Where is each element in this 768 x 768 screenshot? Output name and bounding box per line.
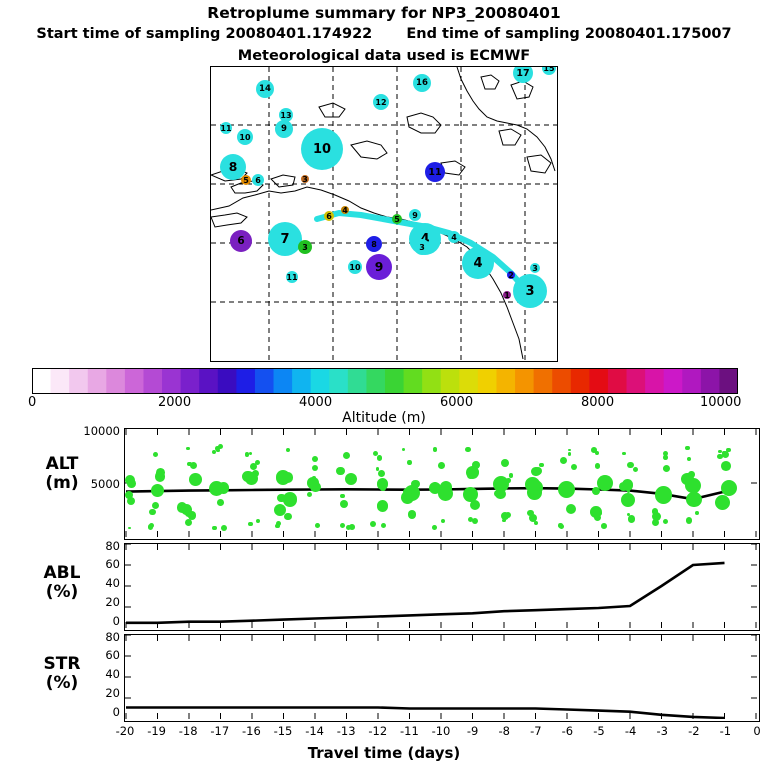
str-ytick-80: 80 [64, 630, 120, 644]
alt-bubble [312, 456, 318, 462]
alt-bubble [128, 527, 131, 530]
x-tick-label: -12 [362, 724, 394, 738]
abl-plot [124, 543, 760, 631]
map-marker: 6 [324, 211, 334, 221]
map-marker-label: 6 [237, 235, 244, 247]
map-marker-label: 9 [412, 211, 418, 220]
map-marker: 10 [237, 129, 253, 145]
map-marker-label: 9 [281, 124, 287, 134]
alt-bubble [408, 510, 416, 518]
x-tick-label: -18 [172, 724, 204, 738]
map-marker-label: 1 [504, 291, 510, 300]
alt-bubble [663, 465, 670, 472]
map-marker: 5 [392, 214, 402, 224]
map-marker-label: 6 [326, 212, 332, 221]
map-panel: 1715141612139111010811563645976343481091… [210, 66, 558, 362]
alt-bubble [571, 464, 577, 470]
alt-bubble [189, 473, 202, 486]
str-plot [124, 634, 760, 722]
map-marker: 2 [507, 271, 515, 279]
alt-bubble [217, 499, 224, 506]
map-marker-label: 13 [280, 111, 291, 120]
map-marker-label: 11 [286, 273, 297, 282]
colorbar-tick-4000: 4000 [299, 395, 332, 410]
map-marker-label: 8 [229, 160, 238, 174]
abl-ytick-60: 60 [64, 557, 120, 571]
map-marker-label: 3 [525, 284, 534, 299]
map-marker: 11 [220, 122, 232, 134]
alt-ytick-5000: 5000 [64, 477, 120, 491]
x-axis-title: Travel time (days) [0, 744, 768, 762]
map-marker: 4 [341, 206, 349, 214]
map-marker: 9 [275, 120, 293, 138]
map-marker-label: 3 [532, 264, 538, 273]
alt-bubble [463, 487, 478, 502]
alt-bubble [336, 467, 344, 475]
map-graphic [211, 67, 557, 361]
alt-bubble [151, 484, 164, 497]
map-marker: 1 [503, 291, 511, 299]
map-marker: 6 [252, 174, 264, 186]
map-marker-label: 12 [375, 98, 386, 107]
alt-bubble [438, 462, 445, 469]
x-tick-label: -4 [615, 724, 647, 738]
map-marker-label: 2 [508, 271, 514, 280]
x-tick-label: -1 [709, 724, 741, 738]
alt-bubble [525, 477, 540, 492]
str-ytick-60: 60 [64, 648, 120, 662]
alt-bubble [407, 460, 411, 464]
str-plot-graphic [125, 635, 757, 719]
alt-bubble [218, 482, 229, 493]
alt-bubble [349, 477, 354, 482]
map-marker: 3 [513, 274, 547, 308]
map-marker-label: 4 [473, 256, 482, 271]
map-marker: 5 [241, 175, 251, 185]
map-marker: 11 [286, 271, 298, 283]
page-title: Retroplume summary for NP3_20080401 [0, 4, 768, 22]
start-time-label: Start time of sampling 20080401.174922 [36, 26, 372, 42]
map-marker-label: 5 [243, 176, 249, 185]
colorbar-tick-0: 0 [28, 395, 36, 410]
alt-bubble [441, 519, 445, 523]
alt-bubble [312, 465, 318, 471]
map-marker: 10 [348, 260, 362, 274]
end-time-label: End time of sampling 20080401.175007 [406, 26, 731, 42]
map-marker: 4 [448, 231, 460, 243]
x-tick-label: -6 [551, 724, 583, 738]
map-marker: 3 [530, 263, 540, 273]
alt-bubble [277, 494, 286, 503]
alt-bubble [275, 524, 279, 528]
map-marker-label: 3 [302, 243, 308, 252]
alt-bubble [221, 525, 227, 531]
map-marker-label: 6 [255, 176, 261, 185]
alt-bubble [505, 512, 511, 518]
abl-ytick-80: 80 [64, 539, 120, 553]
abl-ytick-40: 40 [64, 576, 120, 590]
alt-bubble [245, 452, 249, 456]
map-marker-label: 17 [516, 68, 529, 79]
map-marker: 12 [373, 94, 389, 110]
abl-ytick-0: 0 [64, 614, 120, 628]
alt-bubble [560, 457, 567, 464]
abl-ytick-20: 20 [64, 595, 120, 609]
map-marker-label: 10 [313, 142, 331, 157]
alt-bubble [340, 500, 348, 508]
alt-bubble [471, 468, 479, 476]
alt-bubble [685, 478, 700, 493]
alt-bubble [378, 470, 385, 477]
x-tick-label: -8 [488, 724, 520, 738]
alt-bubble [685, 446, 690, 451]
colorbar-tick-8000: 8000 [581, 395, 614, 410]
alt-bubble [686, 517, 693, 524]
map-marker: 3 [301, 175, 309, 183]
map-marker: 6 [230, 230, 252, 252]
alt-bubble [340, 523, 345, 528]
map-marker-label: 11 [220, 124, 231, 133]
alt-bubble [433, 447, 437, 451]
alt-bubble [687, 457, 691, 461]
map-marker-label: 14 [259, 84, 271, 94]
x-tick-label: -5 [583, 724, 615, 738]
map-marker: 9 [366, 254, 392, 280]
alt-bubble [590, 506, 602, 518]
map-marker-label: 15 [543, 66, 554, 73]
alt-bubble [652, 512, 661, 521]
alt-bubble [310, 482, 321, 493]
x-tick-label: -13 [330, 724, 362, 738]
x-tick-label: -3 [646, 724, 678, 738]
alt-bubble [403, 488, 411, 496]
map-marker-label: 10 [239, 133, 250, 142]
str-ytick-0: 0 [64, 705, 120, 719]
map-marker-label: 10 [349, 263, 360, 272]
map-marker: 16 [413, 74, 431, 92]
alt-bubble [724, 503, 729, 508]
map-marker: 11 [425, 162, 445, 182]
x-tick-label: -16 [235, 724, 267, 738]
alt-bubble [619, 482, 628, 491]
map-marker-label: 5 [394, 215, 400, 224]
map-marker-label: 4 [342, 206, 348, 215]
x-tick-label: -17 [204, 724, 236, 738]
abl-plot-graphic [125, 544, 757, 628]
alt-bubble [559, 524, 564, 529]
alt-bubble [433, 482, 437, 486]
map-marker: 3 [414, 239, 430, 255]
alt-bubble [686, 492, 701, 507]
x-tick-label: 0 [741, 724, 768, 738]
alt-bubble [622, 452, 625, 455]
x-tick-label: -9 [457, 724, 489, 738]
alt-bubble [628, 515, 635, 522]
map-marker: 10 [301, 128, 343, 170]
map-marker: 9 [409, 209, 421, 221]
alt-bubble [148, 524, 154, 530]
alt-bubble [186, 447, 189, 450]
map-marker-label: 4 [451, 233, 457, 242]
alt-bubble [655, 486, 672, 503]
alt-bubble [465, 447, 471, 453]
alt-bubble [340, 494, 345, 499]
map-marker: 8 [366, 236, 382, 252]
x-tick-label: -14 [299, 724, 331, 738]
map-marker: 14 [256, 80, 274, 98]
alt-bubble [591, 447, 597, 453]
map-marker-label: 3 [302, 175, 308, 184]
alt-bubble [721, 480, 737, 496]
map-marker-label: 7 [280, 232, 289, 247]
x-tick-label: -15 [267, 724, 299, 738]
x-tick-label: -19 [141, 724, 173, 738]
alt-bubble [153, 452, 158, 457]
x-tick-label: -2 [678, 724, 710, 738]
map-marker: 4 [462, 247, 494, 279]
alt-bubble [502, 519, 505, 522]
alt-bubble [283, 472, 294, 483]
str-ytick-20: 20 [64, 686, 120, 700]
x-tick-label: -20 [109, 724, 141, 738]
alt-bubble [370, 521, 376, 527]
alt-bubble [568, 449, 571, 452]
alt-bubble [284, 513, 291, 520]
map-marker-label: 9 [375, 260, 384, 274]
alt-bubble [216, 449, 220, 453]
alt-bubble [506, 478, 511, 483]
sampling-times: Start time of sampling 20080401.174922 E… [0, 26, 768, 42]
map-marker: 3 [298, 240, 312, 254]
alt-bubble [663, 455, 668, 460]
alt-plot [124, 428, 760, 540]
alt-bubble [495, 489, 505, 499]
alt-bubble [245, 472, 258, 485]
alt-bubble [663, 451, 668, 456]
map-marker-label: 11 [428, 167, 441, 178]
alt-bubble [558, 481, 575, 498]
alt-bubble [688, 471, 694, 477]
colorbar-tick-10000: 10000 [700, 395, 741, 410]
altitude-colorbar [32, 368, 738, 394]
alt-bubble [509, 473, 513, 477]
alt-bubble [187, 462, 192, 467]
alt-bubble [377, 455, 383, 461]
alt-bubble [721, 461, 731, 471]
map-marker-label: 16 [416, 78, 428, 88]
colorbar-tick-2000: 2000 [158, 395, 191, 410]
alt-bubble [149, 509, 156, 516]
map-marker-label: 3 [419, 243, 425, 252]
alt-bubble [601, 523, 607, 529]
alt-bubble [125, 491, 133, 499]
alt-bubble [627, 462, 634, 469]
alt-bubble [377, 500, 388, 511]
meteorological-data-label: Meteorological data used is ECMWF [0, 48, 768, 64]
alt-bubble [527, 510, 533, 516]
alt-bubble [248, 522, 252, 526]
alt-bubble [307, 492, 312, 497]
alt-bubble [380, 485, 386, 491]
map-marker-label: 8 [371, 240, 377, 249]
alt-bubble [212, 526, 216, 530]
alt-bubble [722, 451, 729, 458]
map-marker: 7 [268, 222, 302, 256]
str-ytick-40: 40 [64, 667, 120, 681]
colorbar-tick-labels: 0 2000 4000 6000 8000 10000 [0, 395, 768, 411]
colorbar-tick-6000: 6000 [440, 395, 473, 410]
alt-bubble [432, 525, 437, 530]
alt-ytick-10000: 10000 [64, 424, 120, 438]
x-tick-label: -10 [425, 724, 457, 738]
x-tick-label: -11 [393, 724, 425, 738]
alt-bubble [343, 452, 350, 459]
x-tick-label: -7 [520, 724, 552, 738]
